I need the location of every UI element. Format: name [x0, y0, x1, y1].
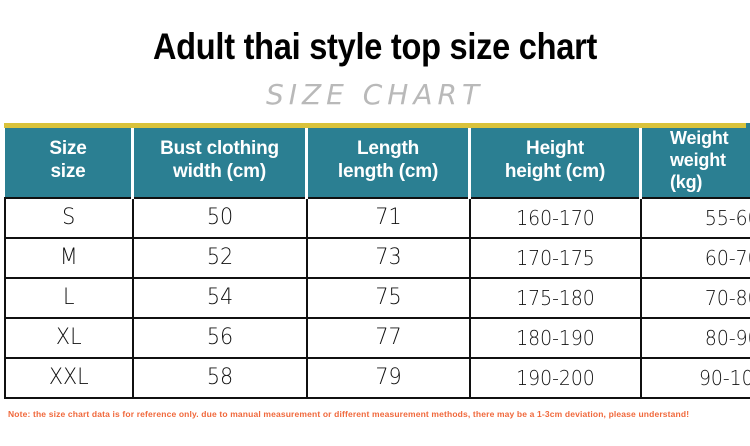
cell-length: 79 — [311, 358, 464, 398]
column-header-weight-line2: weight — [670, 150, 726, 170]
column-header-height-line1: Height — [526, 138, 584, 159]
cell-bust: 50 — [138, 198, 302, 238]
cell-length: 75 — [311, 278, 464, 318]
cell-bust: 54 — [138, 278, 302, 318]
column-header-size-line2: size — [50, 161, 85, 182]
table-row: L 54 75 175-180 70-80 — [5, 278, 750, 318]
table-header-row: Size size Bust clothing width (cm) Lengt… — [5, 123, 750, 198]
cell-size: L — [9, 278, 129, 318]
footer-disclaimer-note: Note: the size chart data is for referen… — [8, 408, 748, 420]
cell-weight: 90-100 — [646, 358, 750, 398]
column-header-bust-line2: width (cm) — [173, 161, 266, 182]
cell-height: 170-175 — [475, 238, 636, 278]
cell-bust: 52 — [138, 238, 302, 278]
table-header: Size size Bust clothing width (cm) Lengt… — [5, 123, 750, 198]
page-title: Adult thai style top size chart — [45, 26, 705, 68]
cell-height: 175-180 — [475, 278, 636, 318]
column-header-weight-line3: (kg) — [670, 172, 702, 192]
cell-size: S — [9, 198, 129, 238]
cell-weight: 55-60 — [646, 198, 750, 238]
size-chart-table-wrapper: Size size Bust clothing width (cm) Lengt… — [4, 123, 746, 399]
column-header-height: Height height (cm) — [470, 123, 641, 198]
cell-length: 73 — [311, 238, 464, 278]
table-row: M 52 73 170-175 60-70 — [5, 238, 750, 278]
table-row: XXL 58 79 190-200 90-100 — [5, 358, 750, 398]
cell-weight: 70-80 — [646, 278, 750, 318]
column-header-length: Length length (cm) — [307, 123, 470, 198]
cell-bust: 56 — [138, 318, 302, 358]
column-header-length-line2: length (cm) — [338, 161, 438, 182]
cell-weight: 60-70 — [646, 238, 750, 278]
column-header-length-line1: Length — [357, 138, 419, 159]
gold-accent-strip — [4, 123, 746, 128]
column-header-weight: Weight weight (kg) — [641, 123, 750, 198]
cell-bust: 58 — [138, 358, 302, 398]
column-header-weight-line1: Weight — [670, 128, 728, 148]
table-row: S 50 71 160-170 55-60 — [5, 198, 750, 238]
cell-size: XXL — [9, 358, 129, 398]
column-header-size-line1: Size — [49, 138, 86, 159]
size-chart-table: Size size Bust clothing width (cm) Lengt… — [4, 123, 750, 399]
table-row: XL 56 77 180-190 80-90 — [5, 318, 750, 358]
page-subtitle: SIZE CHART — [0, 78, 750, 112]
table-body: S 50 71 160-170 55-60 M 52 73 170-175 60… — [5, 198, 750, 398]
column-header-height-line2: height (cm) — [505, 161, 605, 182]
cell-size: M — [9, 238, 129, 278]
column-header-bust-line1: Bust clothing — [160, 138, 279, 159]
cell-height: 190-200 — [475, 358, 636, 398]
column-header-bust: Bust clothing width (cm) — [133, 123, 307, 198]
cell-height: 160-170 — [475, 198, 636, 238]
cell-length: 71 — [311, 198, 464, 238]
cell-size: XL — [9, 318, 129, 358]
cell-height: 180-190 — [475, 318, 636, 358]
cell-length: 77 — [311, 318, 464, 358]
cell-weight: 80-90 — [646, 318, 750, 358]
column-header-size: Size size — [5, 123, 133, 198]
